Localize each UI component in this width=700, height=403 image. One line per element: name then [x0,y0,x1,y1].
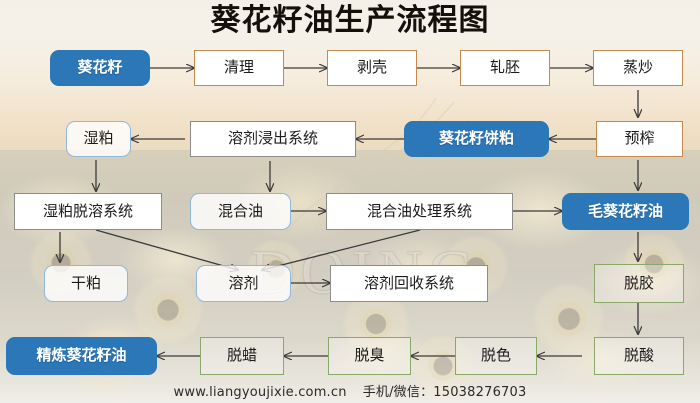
node-solvent-recovery-system[interactable]: 溶剂回收系统 [330,265,488,302]
node-label: 脱酸 [624,348,654,364]
node-dehulling[interactable]: 剥壳 [327,50,417,86]
node-dewaxing[interactable]: 脱蜡 [200,337,284,375]
node-crude-sunflower-oil[interactable]: 毛葵花籽油 [562,193,689,230]
node-label: 清理 [224,60,254,76]
node-label: 蒸炒 [623,60,653,76]
footer-contact: 手机/微信：15038276703 [363,385,527,400]
node-label: 干粕 [71,276,101,292]
node-sunflower-seed[interactable]: 葵花籽 [50,50,150,86]
node-prepress[interactable]: 预榨 [596,121,683,157]
node-label: 溶剂 [228,276,258,292]
arrow-treatment-to-solvent [262,230,420,270]
node-wet-meal-desolventizing-system[interactable]: 湿粕脱溶系统 [14,193,162,230]
node-label: 溶剂回收系统 [364,276,454,292]
node-label: 脱臭 [354,348,384,364]
node-label: 脱胶 [624,276,654,292]
node-label: 葵花籽 [77,60,122,76]
footer-website: www.liangyoujixie.com.cn [174,385,347,400]
node-wet-meal[interactable]: 湿粕 [66,121,131,157]
node-dry-meal[interactable]: 干粕 [44,265,128,302]
node-label: 轧胚 [490,60,520,76]
node-label: 混合油处理系统 [367,204,472,220]
node-deodorization[interactable]: 脱臭 [328,337,411,375]
arrow-desolventizing-to-solvent [96,230,238,270]
node-cooking[interactable]: 蒸炒 [593,50,683,86]
node-label: 脱色 [481,348,511,364]
node-label: 精炼葵花籽油 [36,348,126,364]
node-mixed-oil[interactable]: 混合油 [190,193,291,230]
node-label: 脱蜡 [227,348,257,364]
node-mixed-oil-treatment-system[interactable]: 混合油处理系统 [326,193,513,230]
node-seed-cake-meal[interactable]: 葵花籽饼粕 [404,121,549,157]
node-label: 剥壳 [357,60,387,76]
node-label: 湿粕 [83,131,113,147]
node-label: 葵花籽饼粕 [439,131,514,147]
node-decolorization[interactable]: 脱色 [455,337,537,375]
footer: www.liangyoujixie.com.cn手机/微信：1503827670… [0,381,700,400]
node-label: 溶剂浸出系统 [228,131,318,147]
node-degumming[interactable]: 脱胶 [594,264,684,303]
node-label: 预榨 [624,131,654,147]
node-label: 湿粕脱溶系统 [43,204,133,220]
node-flaking[interactable]: 轧胚 [460,50,550,86]
node-solvent[interactable]: 溶剂 [196,265,291,302]
flowchart-canvas: DOING 葵花籽油生产流程图 [0,0,700,403]
node-label: 混合油 [218,204,263,220]
node-solvent-extraction-system[interactable]: 溶剂浸出系统 [190,121,356,157]
node-cleaning[interactable]: 清理 [194,50,284,86]
node-label: 毛葵花籽油 [588,204,663,220]
node-refined-sunflower-oil[interactable]: 精炼葵花籽油 [6,337,157,375]
node-deacidification[interactable]: 脱酸 [594,337,684,375]
